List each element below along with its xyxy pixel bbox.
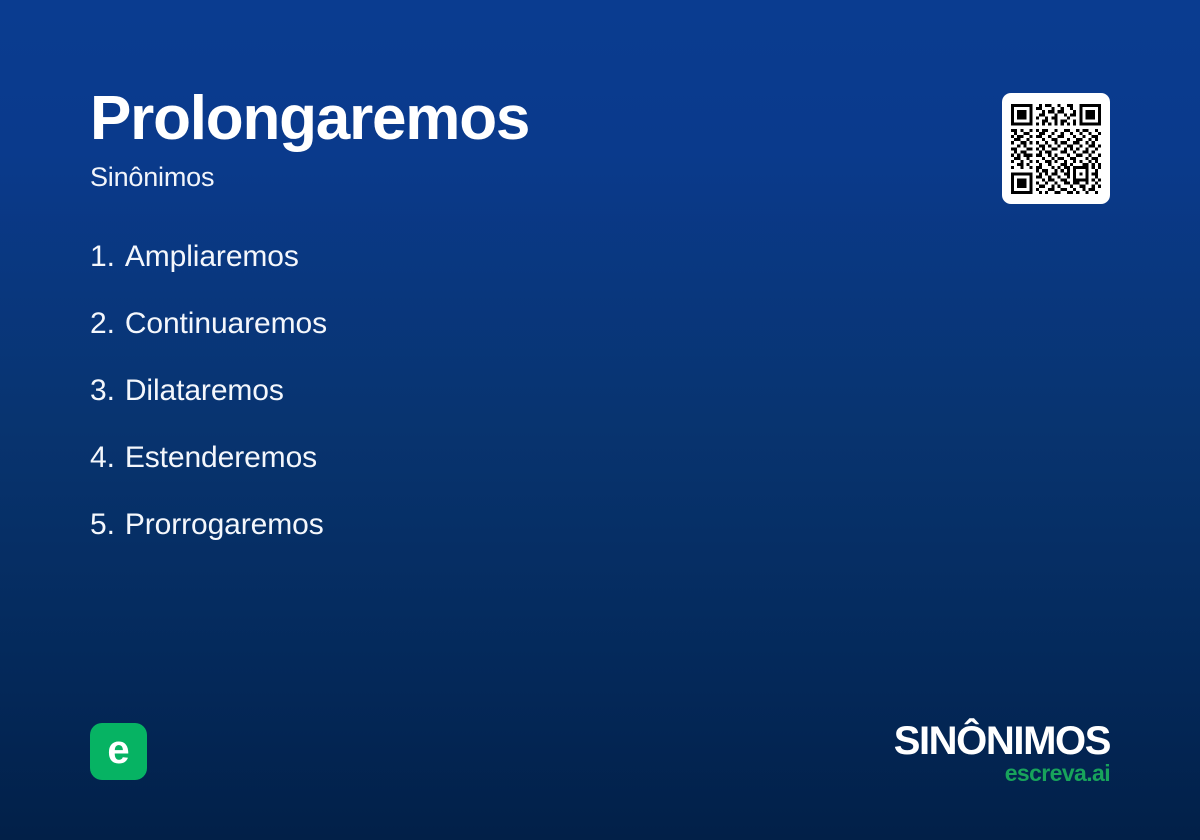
headline-block: Prolongaremos Sinônimos (90, 88, 950, 191)
synonym-item: 3.Dilataremos (90, 372, 910, 439)
synonym-index: 2. (90, 305, 115, 343)
synonym-word: Ampliaremos (125, 238, 299, 276)
synonym-word: Prorrogaremos (125, 506, 324, 544)
brand-badge-letter: e (107, 730, 129, 770)
synonym-item: 1.Ampliaremos (90, 238, 910, 305)
synonym-item: 4.Estenderemos (90, 439, 910, 506)
synonym-word: Estenderemos (125, 439, 317, 477)
synonym-index: 5. (90, 506, 115, 544)
site-logo[interactable]: SINÔNIMOS escreva.ai (894, 722, 1110, 785)
synonym-index: 1. (90, 238, 115, 276)
page-title: Prolongaremos (90, 88, 950, 150)
synonym-word: Dilataremos (125, 372, 284, 410)
synonym-index: 4. (90, 439, 115, 477)
synonym-card: Prolongaremos Sinônimos 1.Ampliaremos2.C… (0, 0, 1200, 840)
synonym-item: 2.Continuaremos (90, 305, 910, 372)
synonym-index: 3. (90, 372, 115, 410)
escreva-e-badge-icon[interactable]: e (90, 723, 147, 780)
site-logo-name: SINÔNIMOS (894, 722, 1110, 760)
synonym-word: Continuaremos (125, 305, 327, 343)
page-subtitle: Sinônimos (90, 164, 950, 191)
qr-panel[interactable] (1002, 93, 1110, 204)
synonym-item: 5.Prorrogaremos (90, 506, 910, 573)
qr-code-icon (1011, 104, 1101, 194)
synonym-list: 1.Ampliaremos2.Continuaremos3.Dilataremo… (90, 238, 910, 573)
site-logo-domain: escreva.ai (894, 761, 1110, 785)
